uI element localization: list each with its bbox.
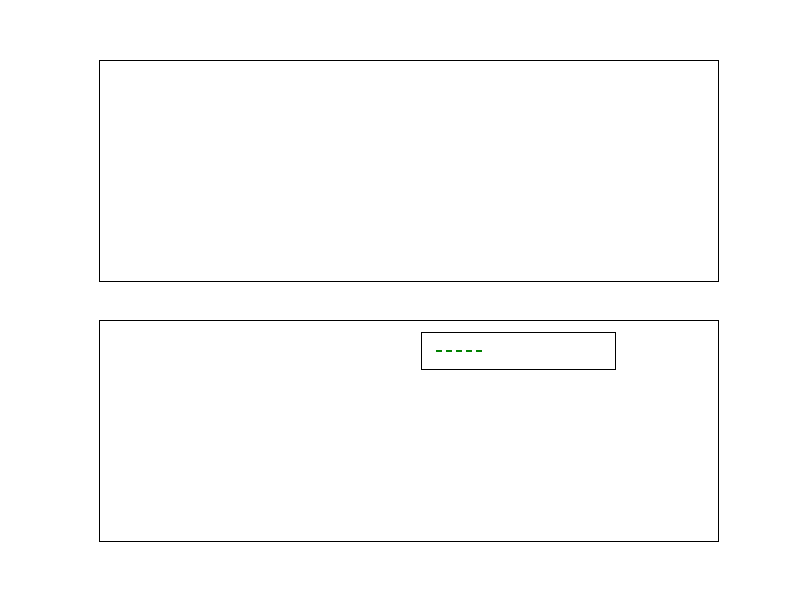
figure-canvas bbox=[0, 0, 800, 600]
mag-limit-swatch-icon bbox=[436, 350, 482, 352]
bottom-panel-axes bbox=[99, 320, 719, 542]
histogram-bars-layer bbox=[100, 61, 718, 281]
top-panel-axes bbox=[99, 60, 719, 282]
legend-box bbox=[421, 332, 616, 370]
cumulative-curve bbox=[100, 321, 720, 543]
